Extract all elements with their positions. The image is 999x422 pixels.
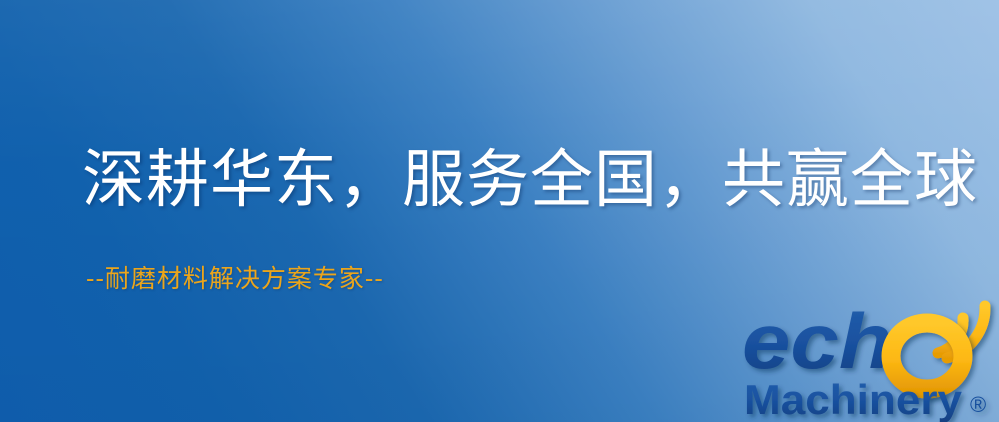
logo-wordmark-ech: ech	[742, 297, 892, 385]
logo-ech-text: ech	[742, 297, 892, 385]
registered-trademark-icon: ®	[970, 392, 986, 417]
logo-artwork: ech Machinery ®	[742, 296, 999, 422]
echo-machinery-logo: ech Machinery ®	[742, 296, 999, 422]
promo-banner: 深耕华东，服务全国，共赢全球 --耐磨材料解决方案专家--	[0, 0, 999, 422]
banner-headline: 深耕华东，服务全国，共赢全球	[82, 148, 978, 211]
banner-subtitle: --耐磨材料解决方案专家--	[86, 266, 384, 291]
logo-machinery-text: Machinery	[744, 376, 963, 422]
logo-subtext-machinery: Machinery ®	[744, 376, 986, 422]
